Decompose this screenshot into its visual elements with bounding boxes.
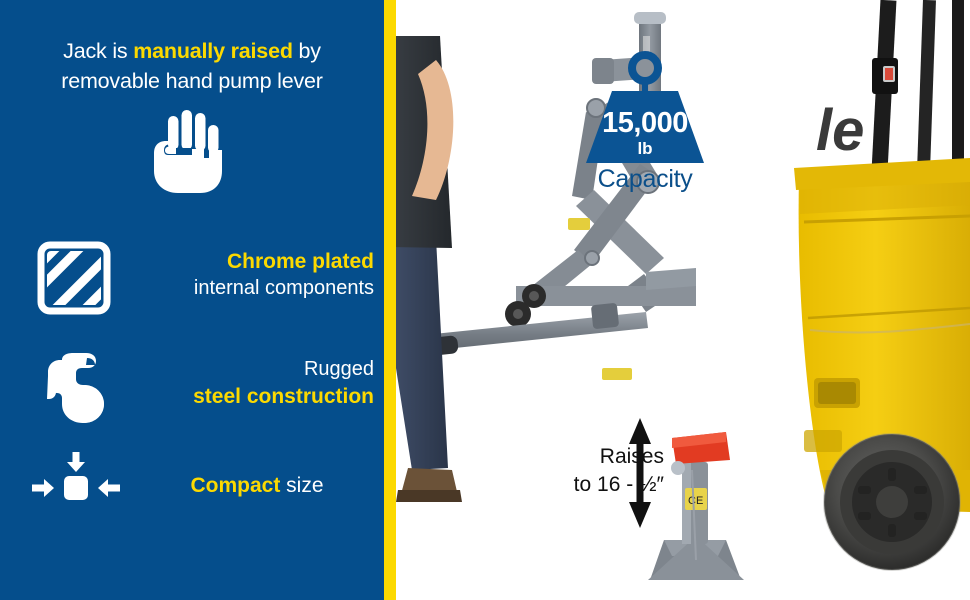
capacity-amount: 15,000 [572, 107, 718, 140]
forklift-wheel [824, 434, 960, 570]
feature-1-line2: removable hand pump lever [61, 69, 323, 93]
feature-2-bold: Chrome plated [124, 248, 374, 275]
feature-steel-construction-text: Rugged steel construction [124, 355, 374, 411]
hatched-square-icon [38, 242, 110, 314]
capacity-badge: 15,000 lb Capacity [572, 55, 718, 195]
bicep-icon [38, 352, 118, 424]
feature-3-rest: Rugged [304, 358, 374, 380]
feature-1-line1-pre: Jack is [63, 39, 133, 63]
marketing-banner: Jack is manually raised by removable han… [0, 0, 970, 600]
feature-1-line1-post: by [293, 39, 321, 63]
feature-manual-raise-text: Jack is manually raised by removable han… [16, 36, 368, 96]
feature-chrome-plated-text: Chrome plated internal components [124, 248, 374, 302]
forklift-brand-text: le [816, 98, 864, 163]
yellow-divider-stripe [384, 0, 396, 600]
forklift-illustration: le [794, 0, 970, 570]
feature-4-rest: size [280, 474, 323, 497]
capacity-unit: lb [572, 139, 718, 159]
feature-3-bold: steel construction [124, 383, 374, 411]
feature-compact-size-text: Compact size [140, 473, 374, 499]
product-photo-area: le [396, 0, 970, 600]
svg-text:CE: CE [688, 495, 703, 507]
feature-2-rest: internal components [194, 277, 374, 299]
double-arrow-vertical-icon [627, 418, 653, 528]
feature-1-line1-bold: manually raised [133, 39, 293, 63]
compress-arrows-icon [26, 452, 126, 518]
feature-panel: Jack is manually raised by removable han… [0, 0, 384, 600]
worker-illustration [396, 36, 462, 502]
fist-icon [152, 108, 228, 194]
capacity-label: Capacity [566, 165, 724, 194]
feature-4-bold: Compact [190, 474, 280, 497]
